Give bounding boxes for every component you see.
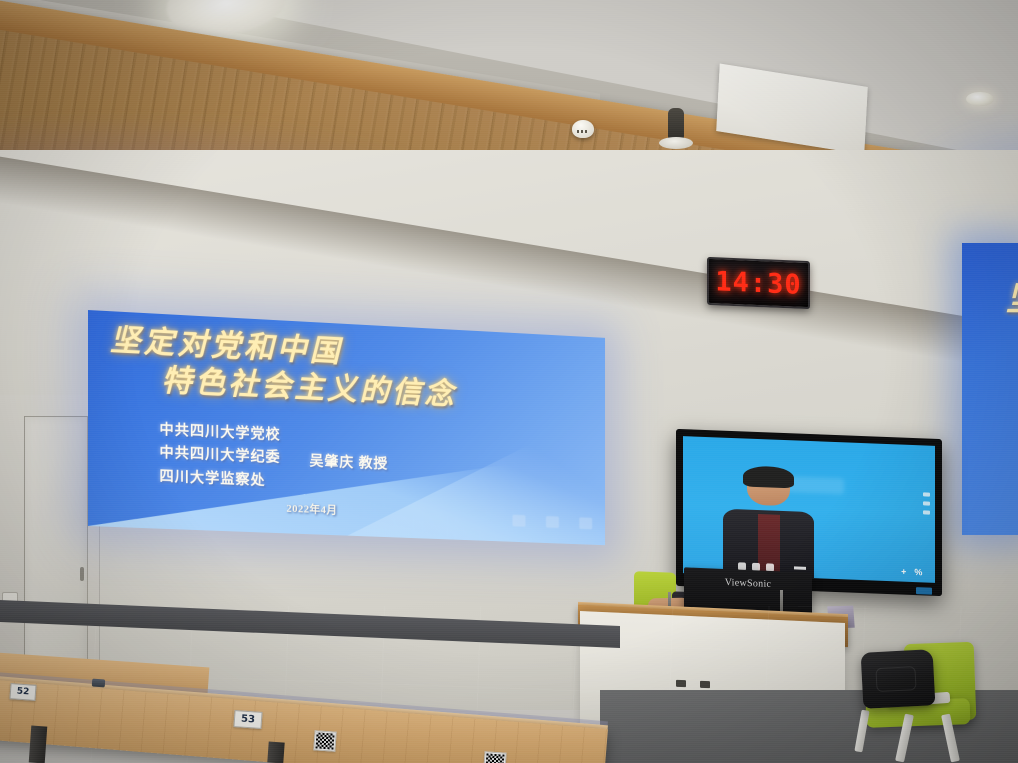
taskbar-icon [512, 515, 525, 527]
tv-screen[interactable]: + % [683, 436, 935, 583]
plus-icon[interactable]: + [901, 566, 906, 576]
backpack[interactable] [861, 649, 936, 709]
seat-number-label: 52 [9, 683, 36, 701]
slide-organizations: 中共四川大学党校 中共四川大学纪委 四川大学监察处 [159, 419, 280, 494]
minimize-icon[interactable] [794, 566, 806, 569]
ceiling-speaker-icon [668, 108, 684, 142]
projected-slide: 坚定对党和中国 特色社会主义的信念 中共四川大学党校 中共四川大学纪委 四川大学… [88, 310, 605, 545]
clock-time: 14:30 [715, 266, 801, 301]
seat-number-label: 53 [233, 710, 262, 729]
secondary-projection-screen: 坚 [962, 243, 1018, 535]
qr-code-sticker [313, 730, 336, 751]
lecture-hall-photo: 坚定对党和中国 特色社会主义的信念 中共四川大学党校 中共四川大学纪委 四川大学… [0, 0, 1018, 763]
taskbar-icon [579, 517, 592, 529]
tv-zoom-controls[interactable]: + % [901, 566, 922, 577]
tv-zoom-label: % [914, 567, 922, 577]
desk-leg [267, 741, 284, 763]
slide-date: 2022年4月 [286, 500, 337, 518]
slide-speaker-name: 吴肇庆 教授 [310, 450, 389, 474]
digital-clock: 14:30 [707, 257, 810, 309]
video-participant [723, 468, 814, 578]
slide-org-line3: 四川大学监察处 [159, 466, 280, 494]
monitor-brand-label: ViewSonic [725, 577, 772, 590]
tv-brand-badge [916, 587, 932, 595]
desk-clip [92, 679, 106, 688]
qr-code-sticker [483, 751, 506, 763]
downlight [966, 92, 994, 106]
secondary-slide-char: 坚 [1006, 271, 1018, 320]
desk-leg [29, 725, 48, 763]
smoke-detector-icon [572, 120, 594, 138]
taskbar-icon [546, 516, 559, 528]
tv-side-controls[interactable] [923, 492, 930, 514]
